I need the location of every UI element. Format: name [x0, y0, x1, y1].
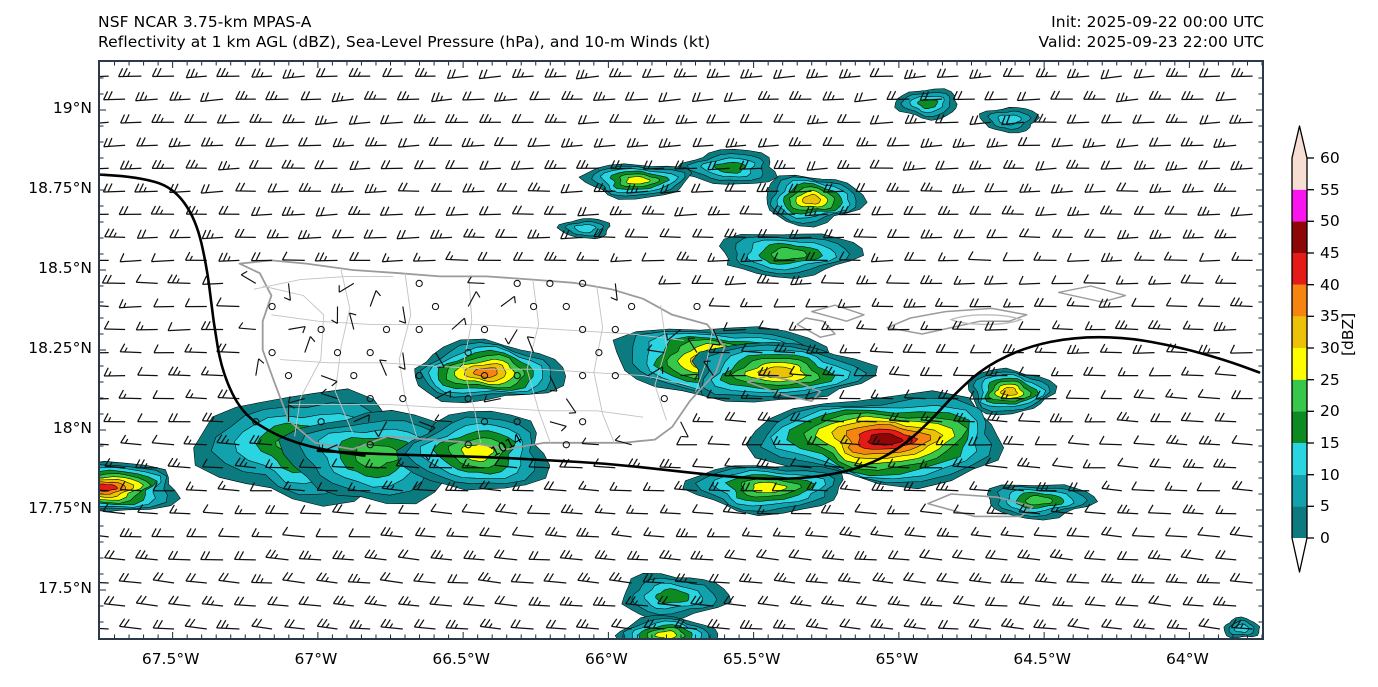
wind-barb — [1134, 161, 1154, 170]
wind-barb — [1053, 229, 1073, 237]
wind-barb — [936, 161, 959, 170]
wind-barb — [1230, 573, 1252, 583]
wind-barb — [1132, 482, 1155, 491]
wind-barb — [806, 527, 828, 537]
wind-barb — [169, 596, 191, 606]
wind-barb — [740, 206, 762, 215]
wind-barb — [416, 528, 436, 537]
wind-barb — [611, 283, 617, 300]
wind-barb — [1050, 414, 1073, 422]
wind-barb — [170, 92, 191, 101]
wind-barb — [463, 92, 485, 101]
wind-barb — [383, 68, 403, 76]
wind-barb — [823, 137, 844, 145]
wind-barb — [364, 91, 386, 99]
wind-barb — [887, 505, 909, 513]
wind-barb — [350, 620, 370, 629]
wind-barb — [235, 551, 256, 560]
wind-barb — [168, 551, 190, 560]
wind-barb — [152, 160, 174, 168]
coastline-path — [812, 305, 864, 321]
colorbar-over-arrow — [1292, 126, 1307, 158]
calm-wind-circle — [416, 326, 422, 332]
wind-barb — [625, 229, 648, 238]
wind-barb — [315, 160, 338, 168]
wind-barb — [921, 275, 943, 283]
wind-barb — [366, 505, 387, 514]
wind-barb — [789, 137, 811, 145]
wind-barb — [170, 229, 191, 237]
calm-wind-circle — [285, 373, 291, 379]
wind-barb — [970, 161, 991, 170]
wind-barb — [1198, 389, 1220, 398]
wind-barb — [350, 252, 371, 260]
wind-barb — [840, 390, 861, 398]
wind-barb — [576, 70, 599, 79]
wind-barb — [870, 160, 893, 168]
wind-barb — [100, 345, 109, 353]
wind-barb — [1034, 619, 1057, 629]
wind-barb — [1183, 459, 1203, 468]
wind-barb — [970, 481, 992, 491]
wind-barb — [1230, 527, 1253, 537]
colorbar-band — [1292, 411, 1307, 443]
wind-barb — [773, 528, 795, 537]
wind-barb — [986, 550, 1008, 560]
wind-barb — [872, 298, 893, 306]
wind-barb — [936, 482, 958, 491]
wind-barb — [283, 69, 305, 78]
wind-barb — [448, 574, 468, 583]
longitude-tick-label: 67°W — [294, 650, 337, 668]
wind-barb — [217, 115, 239, 124]
wind-barb — [1214, 138, 1237, 147]
wind-barb — [217, 68, 240, 76]
wind-barb — [888, 229, 910, 237]
wind-barb — [1149, 595, 1171, 606]
wind-barb — [560, 550, 582, 560]
wind-barb — [154, 299, 174, 307]
colorbar-band — [1292, 475, 1307, 507]
wind-barb — [168, 458, 190, 468]
wind-barb — [857, 137, 877, 146]
wind-barb — [136, 596, 157, 607]
wind-barb — [610, 206, 632, 214]
wind-barb — [1101, 161, 1122, 170]
wind-barb — [676, 528, 697, 537]
wind-barb — [953, 596, 975, 607]
calm-wind-circle — [383, 326, 389, 332]
wind-barb — [235, 229, 256, 238]
wind-barb — [528, 183, 550, 192]
wind-barb — [513, 69, 534, 78]
wind-barb — [446, 251, 469, 260]
wind-barb — [1132, 298, 1155, 306]
wind-barb — [921, 183, 942, 192]
wind-barb — [1035, 436, 1056, 444]
wind-barb — [659, 276, 681, 284]
wind-barb — [219, 528, 240, 537]
wind-barb — [643, 482, 664, 491]
wind-barb — [397, 230, 419, 239]
wind-barb — [100, 620, 109, 629]
wind-barb — [321, 376, 337, 386]
wind-barb — [822, 596, 845, 606]
wind-barb — [316, 68, 337, 77]
wind-barb — [660, 459, 681, 468]
wind-barb — [839, 69, 860, 78]
header-left: NSF NCAR 3.75-km MPAS-A Reflectivity at … — [98, 12, 710, 52]
wind-barb — [252, 574, 273, 583]
latitude-tick-label: 19°N — [53, 99, 92, 117]
wind-barb — [1067, 574, 1089, 583]
calm-wind-circle — [596, 350, 602, 356]
wind-barb — [921, 230, 942, 238]
wind-barb — [496, 229, 518, 237]
wind-barb — [1001, 574, 1024, 583]
wind-barb — [659, 138, 681, 147]
wind-barb — [380, 207, 402, 216]
wind-barb — [104, 368, 125, 376]
wind-barb — [350, 161, 370, 170]
wind-barb — [1150, 230, 1171, 239]
wind-barb — [381, 160, 403, 168]
wind-barb — [560, 597, 583, 606]
wind-barb — [170, 505, 191, 514]
wind-barb — [807, 115, 827, 124]
model-name: NSF NCAR 3.75-km MPAS-A — [98, 12, 710, 32]
wind-barb — [511, 574, 533, 583]
wind-barb — [494, 550, 517, 560]
wind-barb — [1150, 459, 1171, 468]
wind-barb — [235, 505, 256, 514]
wind-barb — [431, 504, 452, 514]
wind-barb — [1085, 184, 1106, 193]
wind-barb — [169, 138, 190, 147]
wind-barb — [241, 271, 256, 283]
wind-barb — [1068, 207, 1090, 216]
wind-barb — [1181, 413, 1203, 422]
wind-barb — [168, 275, 191, 284]
wind-barb — [936, 344, 958, 353]
wind-barb — [1132, 528, 1154, 537]
wind-barb — [431, 183, 452, 191]
wind-barb — [1166, 161, 1188, 170]
wind-barb — [1034, 298, 1056, 306]
wind-barb — [1085, 414, 1106, 422]
wind-barb — [1102, 481, 1122, 491]
wind-barb — [219, 206, 239, 214]
wind-barb — [315, 116, 337, 125]
wind-barb — [398, 183, 419, 192]
wind-barb — [1183, 321, 1203, 330]
wind-barb — [217, 344, 240, 353]
wind-barb — [282, 207, 305, 216]
wind-barb — [494, 92, 517, 101]
wind-barb — [1215, 229, 1237, 237]
wind-barb — [610, 482, 632, 491]
reflectivity-colorbar[interactable]: [dBZ] 051015202530354045505560 — [1286, 118, 1378, 580]
wind-barb — [577, 528, 599, 537]
valid-time: Valid: 2025-09-23 22:00 UTC — [1038, 32, 1264, 52]
wind-barb — [1118, 367, 1138, 375]
wind-barb — [120, 161, 141, 170]
wind-barb — [904, 206, 926, 214]
wind-barb — [1133, 345, 1155, 354]
wind-barb — [1134, 619, 1155, 629]
wind-barb — [219, 161, 240, 170]
wind-barb — [365, 596, 387, 606]
wind-barb — [544, 206, 566, 214]
wind-barb — [1019, 413, 1041, 422]
wind-barb — [414, 114, 436, 122]
wind-barb — [186, 69, 207, 78]
wind-barb — [462, 504, 484, 514]
wind-barb — [938, 206, 958, 214]
wind-barb — [267, 230, 288, 238]
wind-barb — [185, 298, 207, 306]
wind-barb — [452, 318, 466, 329]
wind-barb — [740, 298, 762, 306]
wind-barb — [1167, 620, 1187, 629]
field-description: Reflectivity at 1 km AGL (dBZ), Sea-Leve… — [98, 32, 710, 52]
wind-barb — [153, 620, 174, 629]
wind-barb — [415, 207, 435, 216]
wind-barb — [903, 344, 926, 353]
calm-wind-circle — [269, 303, 275, 309]
wind-barb — [857, 321, 877, 330]
wind-barb — [550, 422, 566, 431]
wind-barb — [349, 528, 370, 537]
wind-barb — [790, 91, 812, 99]
colorbar-band — [1292, 316, 1307, 348]
wind-barb — [219, 573, 240, 583]
wind-barb — [774, 299, 795, 307]
wind-barb — [905, 527, 926, 537]
wind-barb — [431, 550, 452, 560]
wind-barb — [251, 252, 272, 260]
wind-barb — [774, 160, 795, 168]
wind-barb — [953, 367, 974, 376]
wind-barb — [185, 114, 207, 122]
wind-barb — [921, 321, 942, 329]
wind-barb — [430, 596, 452, 606]
wind-barb — [480, 114, 501, 122]
wind-barb — [185, 344, 207, 353]
colorbar-tick-label: 15 — [1320, 434, 1340, 452]
wind-barb — [285, 619, 305, 629]
wind-barb — [138, 367, 158, 376]
wind-barb — [595, 505, 615, 514]
latitude-tick-label: 18°N — [53, 419, 92, 437]
wind-barb — [152, 114, 174, 122]
wind-barb — [529, 551, 550, 560]
wind-barb — [333, 138, 354, 147]
wind-barb — [725, 276, 746, 285]
wind-barb — [1166, 528, 1188, 537]
latitude-tick-label: 18.25°N — [28, 339, 92, 357]
wind-barb — [740, 620, 762, 629]
wind-barb — [1101, 69, 1122, 78]
wind-barb — [561, 184, 583, 193]
wind-barb — [1230, 115, 1253, 124]
wind-barb — [217, 298, 240, 307]
wind-barb — [693, 504, 714, 514]
wind-barb — [448, 69, 469, 78]
wind-barb — [920, 367, 942, 375]
wind-barb — [153, 390, 174, 398]
wind-barb — [138, 413, 158, 421]
wind-barb — [1017, 92, 1040, 101]
wind-barb — [380, 572, 403, 583]
longitude-tick-label: 64°W — [1166, 650, 1209, 668]
coastline-path — [797, 318, 835, 337]
wind-barb — [627, 138, 648, 147]
wind-barb — [887, 137, 909, 146]
wind-barb — [1053, 597, 1073, 606]
wind-barb — [1134, 206, 1154, 214]
wind-barb — [789, 549, 812, 560]
wind-barb — [365, 184, 387, 193]
wind-barb — [840, 619, 861, 629]
wind-barb — [821, 505, 844, 514]
wind-barb — [545, 252, 567, 261]
wind-barb — [1133, 115, 1155, 124]
wind-barb — [1117, 412, 1138, 422]
latitude-tick-label: 18.75°N — [28, 179, 92, 197]
wind-barb — [857, 596, 877, 606]
wind-barb — [268, 184, 289, 193]
wind-barb — [1001, 527, 1024, 537]
wind-barb — [1102, 114, 1122, 123]
wind-barb — [791, 596, 812, 606]
wind-barb — [1003, 436, 1024, 445]
wind-barb — [969, 619, 991, 629]
wind-barb — [708, 436, 730, 445]
wind-barb — [218, 390, 240, 399]
wind-barb — [953, 138, 975, 147]
wind-barb — [268, 596, 289, 606]
wind-barb — [478, 572, 501, 583]
wind-barb — [332, 93, 354, 102]
wind-barb — [104, 413, 125, 421]
wind-barb — [577, 160, 599, 168]
wind-barb — [659, 92, 681, 101]
colorbar-band — [1292, 506, 1307, 538]
wind-barb — [545, 527, 566, 537]
wind-barb — [463, 184, 485, 193]
wind-barb — [905, 69, 926, 78]
wind-barb — [1018, 550, 1040, 560]
wind-barb — [1215, 366, 1236, 376]
wind-barb — [332, 230, 353, 238]
wind-barb — [1183, 597, 1204, 606]
calm-wind-circle — [334, 350, 340, 356]
wind-barb — [954, 276, 975, 284]
wind-barb — [578, 207, 599, 216]
calm-wind-circle — [612, 373, 618, 379]
wind-barb — [349, 68, 370, 76]
wind-barb — [137, 138, 158, 147]
wind-barb — [544, 481, 566, 491]
wind-barb — [644, 115, 665, 124]
wind-barb — [186, 160, 207, 168]
wind-barb — [1003, 252, 1024, 260]
wind-barb — [1067, 115, 1089, 124]
wind-barb — [985, 276, 1008, 285]
wind-barb — [201, 321, 223, 329]
wind-barb — [234, 597, 255, 606]
wind-barb — [365, 550, 387, 560]
wind-barb — [464, 550, 485, 560]
wind-barb — [514, 252, 534, 260]
wind-barb — [561, 504, 582, 513]
wind-barb — [1018, 458, 1041, 468]
colorbar-tick-label: 35 — [1320, 307, 1340, 325]
wind-barb — [283, 527, 305, 537]
colorbar-tick-label: 0 — [1320, 529, 1330, 547]
wind-barb — [266, 550, 289, 560]
wind-barb — [1165, 482, 1187, 491]
wind-barb — [136, 92, 158, 101]
colorbar-tick-label: 60 — [1320, 149, 1340, 167]
colorbar-band — [1292, 443, 1307, 475]
wind-barb — [1085, 229, 1106, 237]
wind-barb — [186, 573, 207, 583]
wind-barb — [1019, 596, 1040, 606]
wind-barb — [480, 161, 501, 170]
wind-barb — [1067, 528, 1089, 537]
wind-barb — [119, 299, 141, 307]
wind-barb — [1214, 183, 1236, 191]
wind-barb — [1214, 322, 1236, 331]
wind-barb — [904, 619, 926, 629]
map-plot-area[interactable]: 1014 — [98, 60, 1264, 640]
wind-barb — [100, 69, 109, 78]
coastline-path — [1059, 286, 1126, 302]
wind-barb — [1148, 550, 1171, 560]
wind-barb — [1232, 252, 1253, 260]
wind-barb — [693, 459, 714, 468]
wind-barb — [903, 161, 926, 170]
wind-barb — [100, 115, 109, 124]
wind-barb — [1052, 275, 1073, 283]
latitude-tick-label: 18.5°N — [38, 259, 92, 277]
wind-barb — [381, 115, 403, 124]
wind-barb — [774, 114, 795, 122]
calm-wind-circle — [629, 303, 635, 309]
wind-barb — [480, 527, 501, 537]
wind-barb — [1050, 549, 1073, 560]
wind-barb — [1067, 253, 1089, 261]
wind-barb — [1230, 345, 1252, 353]
wind-barb — [693, 138, 713, 147]
wind-barb — [1216, 550, 1237, 560]
wind-barb — [1216, 505, 1236, 514]
wind-barb — [151, 206, 174, 214]
wind-barb — [1036, 68, 1056, 77]
wind-barb — [1165, 206, 1187, 215]
wind-barb — [1018, 137, 1040, 145]
wind-barb — [119, 390, 141, 399]
wind-barb — [528, 230, 550, 239]
wind-barb — [120, 344, 141, 353]
colorbar-tick-label: 30 — [1320, 339, 1340, 357]
wind-barb — [1232, 435, 1253, 445]
wind-barb — [1117, 183, 1139, 192]
wind-barb — [256, 359, 264, 376]
wind-barb — [708, 619, 730, 629]
